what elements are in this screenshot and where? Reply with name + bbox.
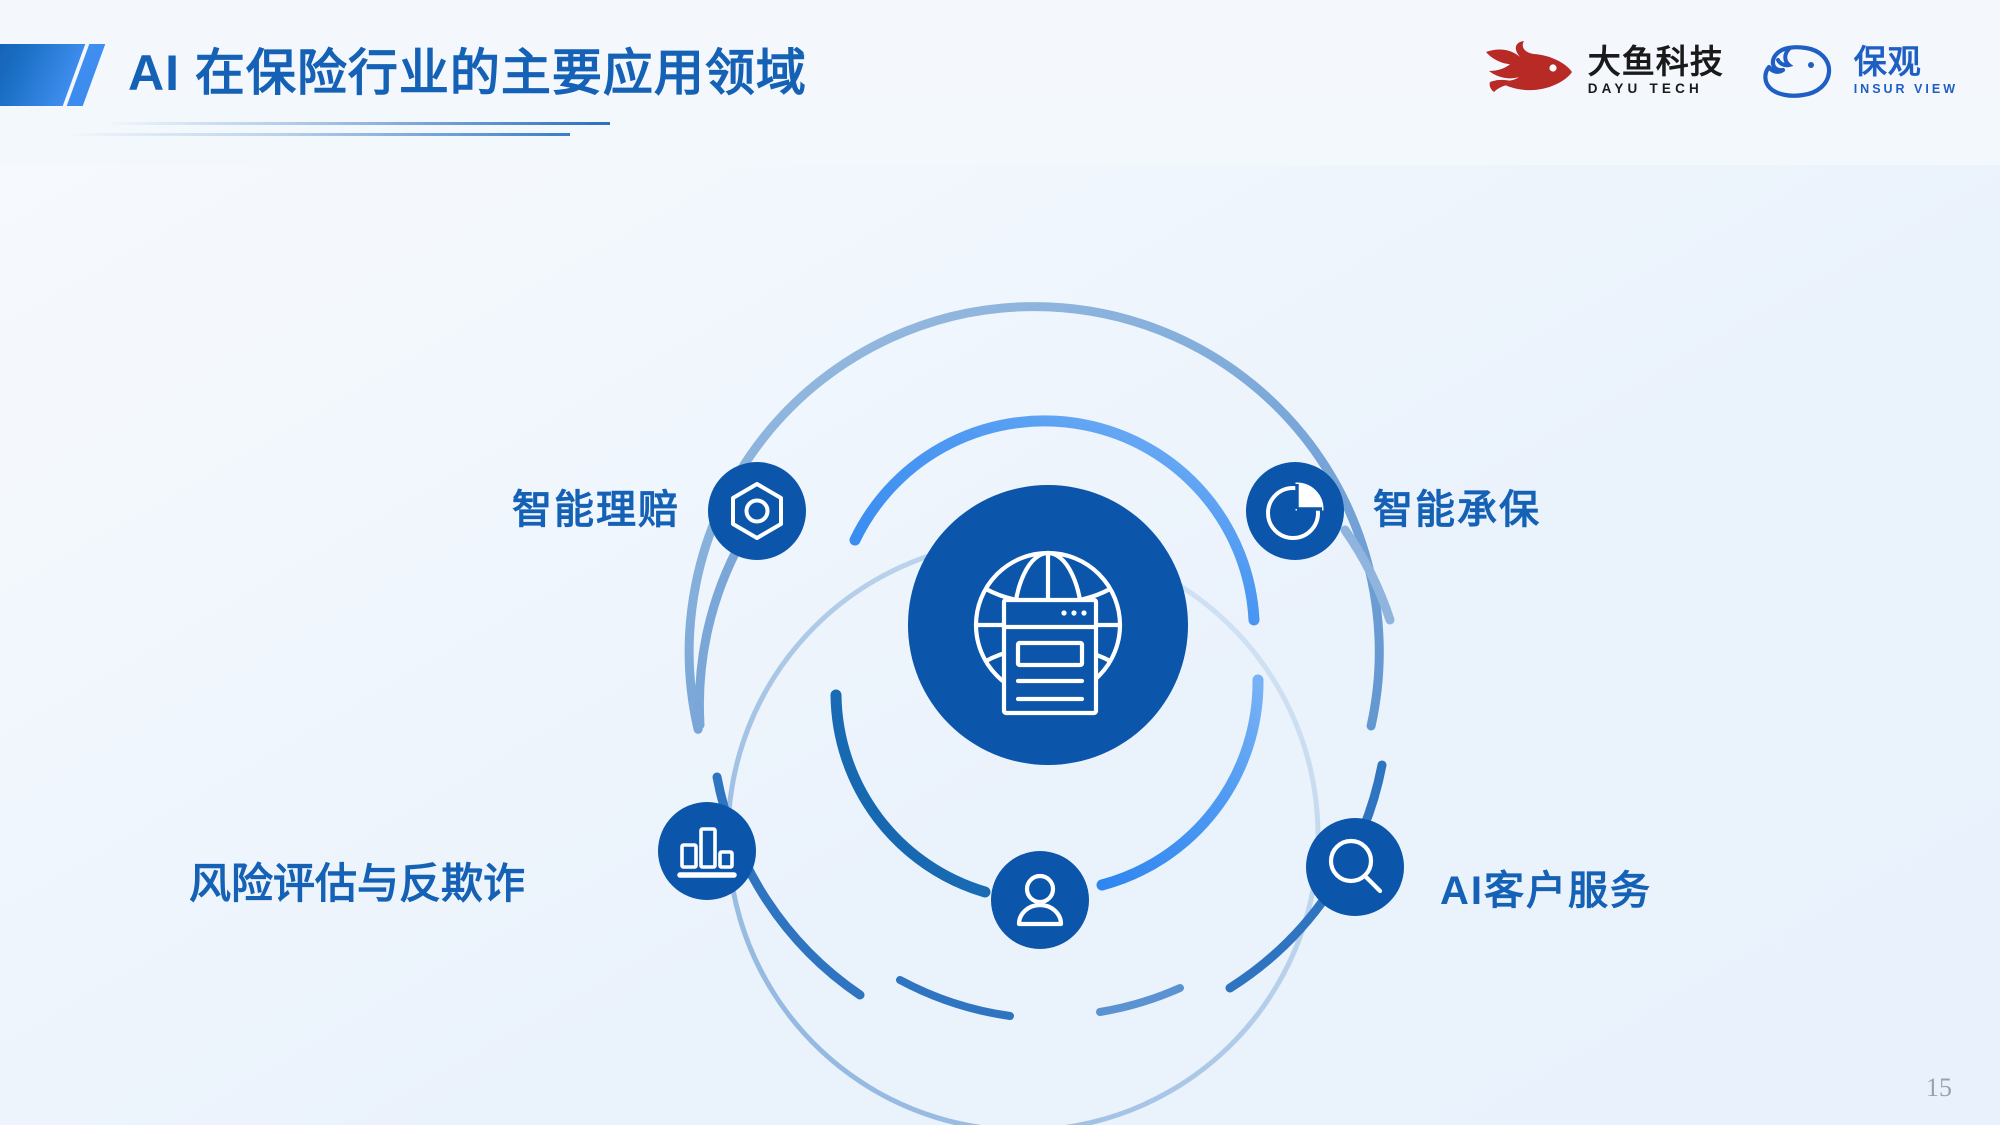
center-node[interactable] xyxy=(908,485,1188,765)
logo-dayu-en: DAYU TECH xyxy=(1588,80,1724,98)
label-smart-underwriting: 智能承保 xyxy=(1373,477,1541,535)
slide-root: AI 在保险行业的主要应用领域 大鱼科技 DAYU TECH xyxy=(0,0,2000,1125)
label-smart-claims: 智能理赔 xyxy=(512,477,680,535)
title-underline-secondary xyxy=(70,133,570,136)
title-underline-primary xyxy=(110,122,610,125)
label-precision-marketing: 精准营销 xyxy=(930,1115,1098,1125)
logo-dayu-cn: 大鱼科技 xyxy=(1588,44,1724,80)
node-risk-antifraud[interactable] xyxy=(658,802,756,900)
logo-dayu-tech: 大鱼科技 DAYU TECH xyxy=(1480,38,1724,104)
label-risk-antifraud: 风险评估与反欺诈 xyxy=(189,850,525,911)
node-smart-underwriting[interactable] xyxy=(1246,462,1344,560)
diagram-svg xyxy=(0,140,2000,1125)
label-ai-customer-service: AI客户服务 xyxy=(1440,858,1652,916)
whale-logo-icon xyxy=(1758,40,1842,102)
diagram-container: 智能理赔 智能承保 风险评估与反欺诈 AI客户服务 精准营销 xyxy=(0,140,2000,1125)
node-ai-customer-service[interactable] xyxy=(1306,818,1404,916)
page-title: AI 在保险行业的主要应用领域 xyxy=(128,42,807,104)
fish-logo-icon xyxy=(1480,38,1576,104)
logo-insur-cn: 保观 xyxy=(1854,44,1958,80)
node-smart-claims[interactable] xyxy=(708,462,806,560)
logo-group: 大鱼科技 DAYU TECH 保观 INSUR VIEW xyxy=(1480,38,1958,104)
logo-insur-text: 保观 INSUR VIEW xyxy=(1854,44,1958,98)
logo-insur-en: INSUR VIEW xyxy=(1854,80,1958,98)
logo-insur-view: 保观 INSUR VIEW xyxy=(1758,40,1958,102)
logo-dayu-text: 大鱼科技 DAYU TECH xyxy=(1588,44,1724,98)
node-precision-marketing[interactable] xyxy=(991,851,1089,949)
page-number: 15 xyxy=(1926,1073,1952,1103)
